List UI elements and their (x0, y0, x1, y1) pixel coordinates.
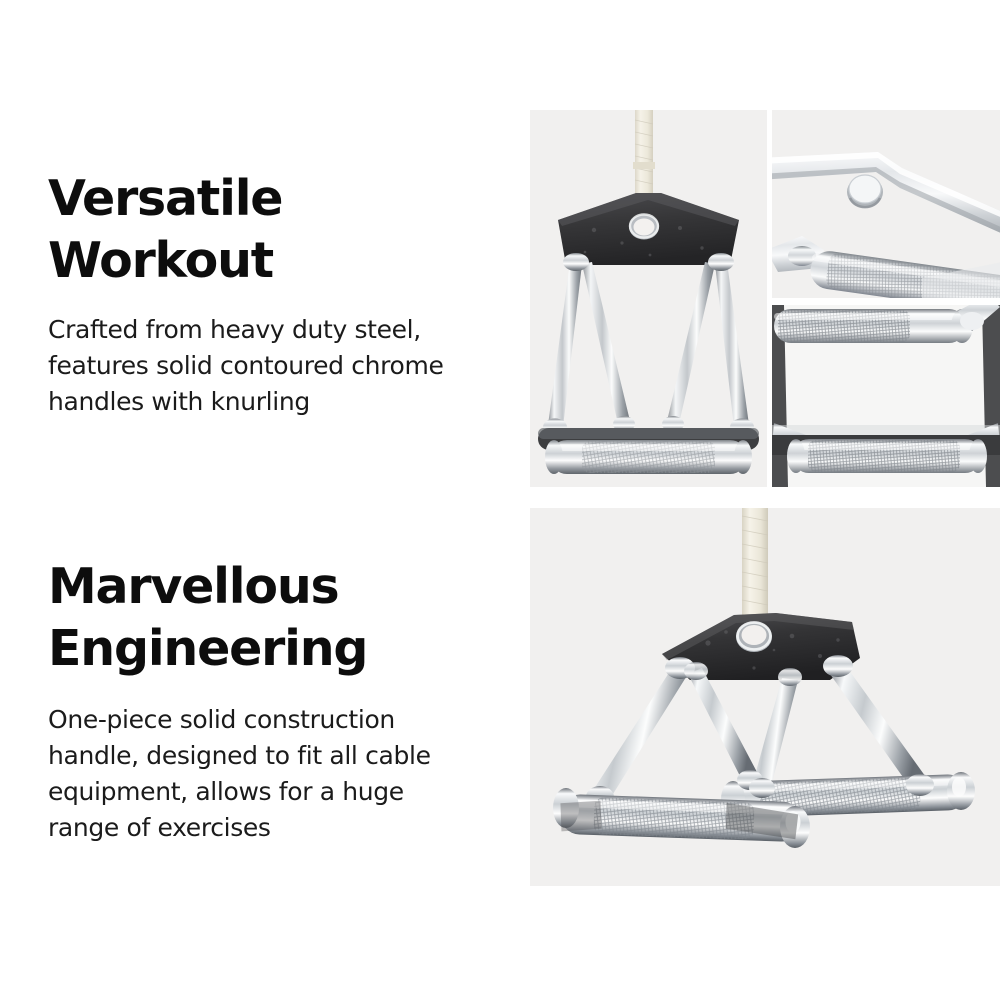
headline-versatile-workout: Versatile Workout (48, 168, 500, 292)
photo-pivot-plate-closeup (772, 110, 1000, 298)
photo-handle-front-view (530, 110, 767, 487)
headline-marvellous-engineering: Marvellous Engineering (48, 556, 500, 680)
photo-knurled-grip-closeup (772, 305, 1000, 487)
feature-block-versatile-workout: Versatile Workout Crafted from heavy dut… (48, 168, 500, 420)
body-marvellous-engineering: One-piece solid construction handle, des… (48, 702, 500, 846)
feature-block-marvellous-engineering: Marvellous Engineering One-piece solid c… (48, 556, 500, 846)
body-versatile-workout: Crafted from heavy duty steel, features … (48, 312, 500, 420)
product-feature-page: Versatile Workout Crafted from heavy dut… (0, 0, 1000, 1000)
photo-handle-hero-angle (530, 508, 1000, 886)
